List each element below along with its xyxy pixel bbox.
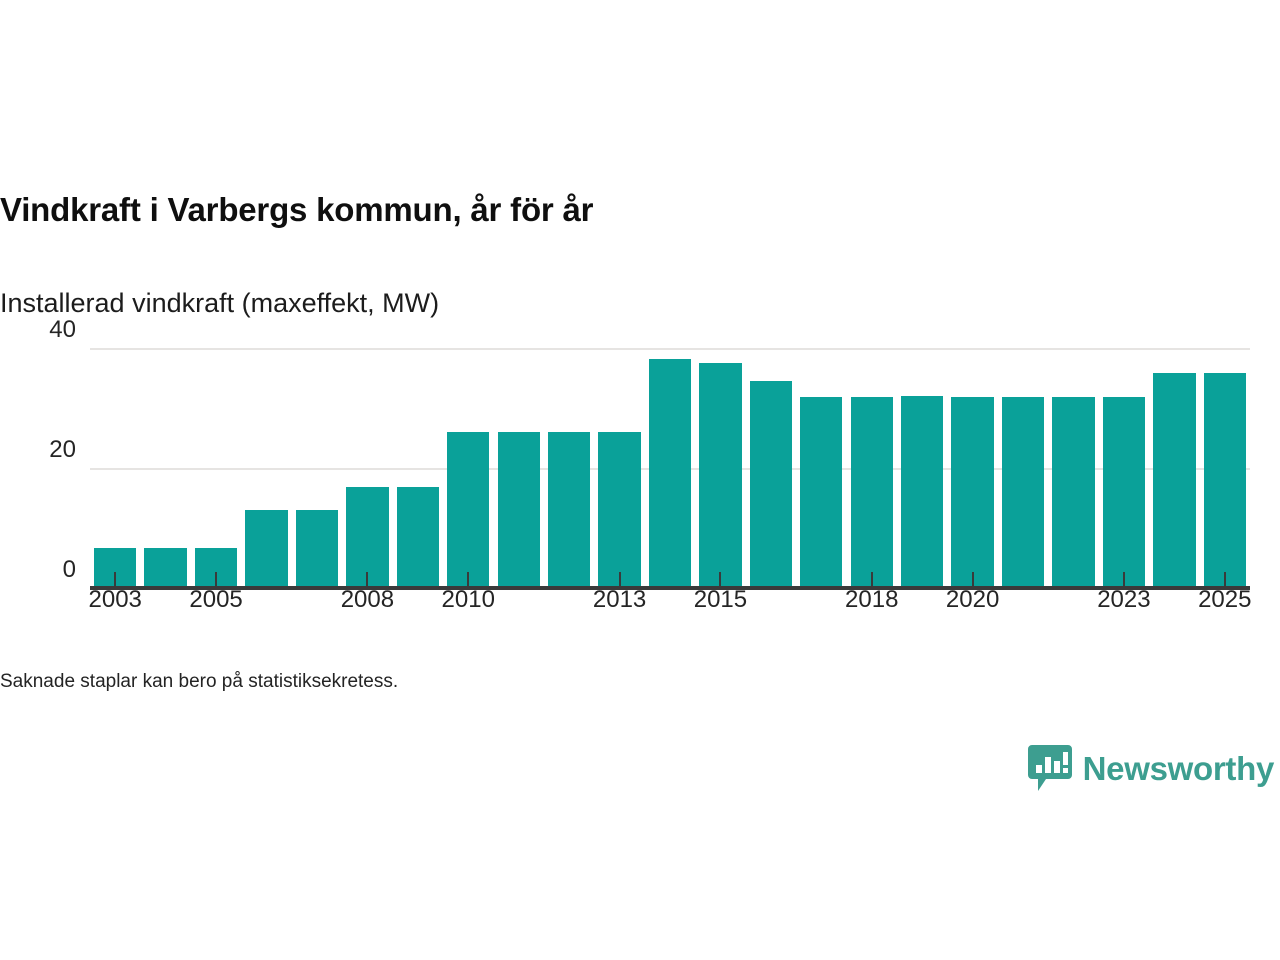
- chart-page: Vindkraft i Varbergs kommun, år för år I…: [0, 0, 1280, 960]
- x-tick-2008: [366, 572, 368, 587]
- x-axis-tick-labels: 2003200520082010201320152018202020232025: [90, 588, 1250, 628]
- x-tick-label-2015: 2015: [694, 588, 747, 612]
- x-tick-label-2010: 2010: [442, 588, 495, 612]
- y-axis-tick-labels: 02040: [0, 330, 76, 590]
- x-tick-2018: [871, 572, 873, 587]
- bar-2025[interactable]: [1204, 373, 1246, 590]
- x-tick-2003: [114, 572, 116, 587]
- newsworthy-wordmark: Newsworthy: [1083, 752, 1274, 785]
- chart-footnote: Saknade staplar kan bero på statistiksek…: [0, 670, 398, 695]
- x-tick-label-2005: 2005: [189, 588, 242, 612]
- x-tick-label-2003: 2003: [89, 588, 142, 612]
- chart-grid-area: [90, 330, 1250, 590]
- y-tick-label: 0: [0, 558, 76, 582]
- x-tick-2005: [215, 572, 217, 587]
- x-tick-2010: [467, 572, 469, 587]
- bar-2017[interactable]: [800, 397, 842, 590]
- chart-subtitle: Installerad vindkraft (maxeffekt, MW): [0, 287, 1240, 319]
- x-tick-2015: [719, 572, 721, 587]
- x-tick-2020: [972, 572, 974, 587]
- x-tick-2013: [619, 572, 621, 587]
- bar-series: [90, 350, 1250, 590]
- bar-2021[interactable]: [1002, 397, 1044, 590]
- x-tick-2025: [1224, 572, 1226, 587]
- bar-2014[interactable]: [649, 359, 691, 590]
- y-tick-label: 40: [0, 318, 76, 342]
- bar-2023[interactable]: [1103, 397, 1145, 590]
- x-tick-label-2025: 2025: [1198, 588, 1251, 612]
- speech-bubble-bar-chart-icon: [1028, 745, 1072, 791]
- bar-2015[interactable]: [699, 363, 741, 590]
- bar-2010[interactable]: [447, 432, 489, 590]
- chart-plot-area: 02040 2003200520082010201320152018202020…: [0, 330, 1280, 630]
- page-title: Vindkraft i Varbergs kommun, år för år: [0, 190, 1240, 230]
- x-tick-label-2008: 2008: [341, 588, 394, 612]
- bar-2013[interactable]: [598, 432, 640, 590]
- newsworthy-logo: Newsworthy: [1028, 745, 1274, 791]
- bar-2019[interactable]: [901, 396, 943, 590]
- x-tick-label-2013: 2013: [593, 588, 646, 612]
- x-tick-label-2020: 2020: [946, 588, 999, 612]
- bar-2012[interactable]: [548, 432, 590, 590]
- x-tick-label-2018: 2018: [845, 588, 898, 612]
- bar-2018[interactable]: [851, 397, 893, 590]
- bar-2011[interactable]: [498, 432, 540, 590]
- x-tick-2023: [1123, 572, 1125, 587]
- bar-2022[interactable]: [1052, 397, 1094, 590]
- bar-2024[interactable]: [1153, 373, 1195, 590]
- bar-2020[interactable]: [951, 397, 993, 590]
- y-tick-label: 20: [0, 438, 76, 462]
- x-tick-label-2023: 2023: [1097, 588, 1150, 612]
- bar-2016[interactable]: [750, 381, 792, 590]
